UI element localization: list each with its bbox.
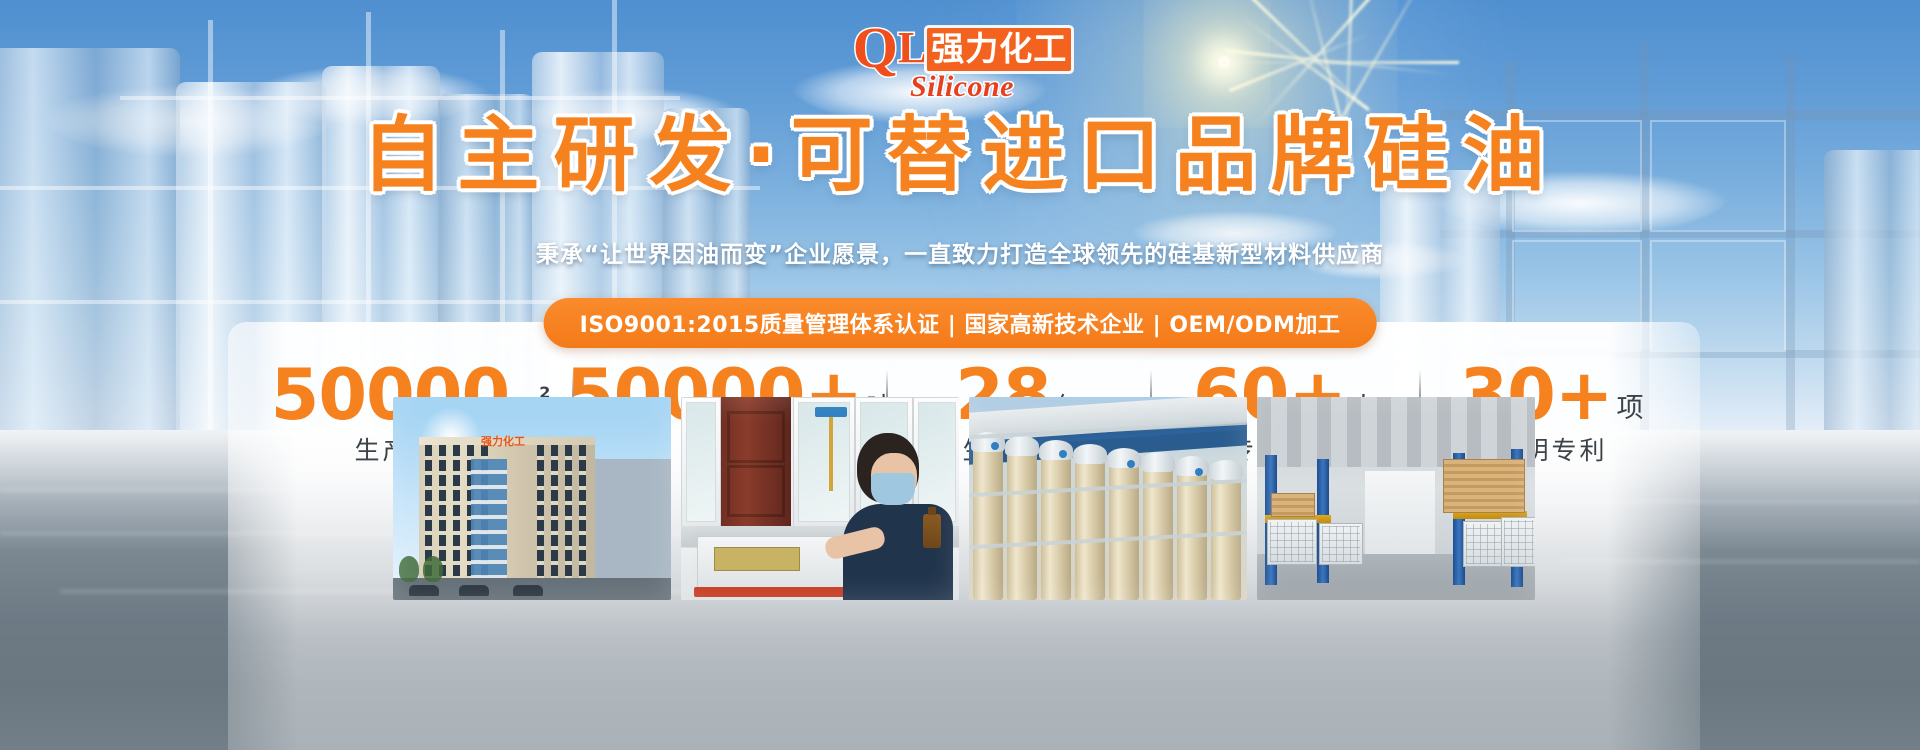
- lab-burette-stand: [829, 415, 833, 491]
- company-logo[interactable]: Q L 强力化工 Silicone: [862, 22, 1062, 100]
- parked-car: [513, 585, 543, 596]
- face-mask: [871, 473, 915, 505]
- ibc-tote: [1501, 517, 1535, 567]
- storage-tank-farm-photo[interactable]: [969, 397, 1247, 600]
- warehouse-storage-photo[interactable]: [1257, 397, 1535, 600]
- logo-company-name-cn: 强力化工: [927, 28, 1071, 71]
- certification-badge: ISO9001:2015质量管理体系认证 | 国家高新技术企业 | OEM/OD…: [544, 298, 1377, 348]
- laboratory-testing-photo[interactable]: [681, 397, 959, 600]
- lab-cabinet: [681, 397, 721, 527]
- parked-car: [459, 585, 489, 596]
- wood-pallet-stack: [1271, 493, 1315, 517]
- tree: [423, 556, 443, 582]
- building-facade: [419, 445, 595, 600]
- warehouse-aisle: [1365, 471, 1435, 567]
- sun-rays: [1224, 62, 1226, 64]
- hero-banner: Q L 强力化工 Silicone 自主研发·可替进口品牌硅油 秉承“让世界因油…: [0, 0, 1920, 750]
- warehouse-ceiling: [1257, 397, 1535, 467]
- parked-car: [409, 585, 439, 596]
- lab-door: [717, 397, 791, 527]
- reagent-bottle: [923, 514, 941, 548]
- ibc-tote: [1319, 523, 1363, 565]
- ibc-tote: [1267, 519, 1317, 565]
- logo-primary-row: Q L 强力化工: [862, 22, 1062, 74]
- tree: [399, 556, 419, 582]
- logo-l-mark: L: [898, 22, 925, 74]
- pipe: [120, 96, 680, 100]
- hero-headline: 自主研发·可替进口品牌硅油: [0, 108, 1920, 204]
- building-logo-sign: 强力化工: [481, 433, 525, 449]
- logo-q-mark: Q: [853, 22, 896, 74]
- photo-strip: 强力化工: [228, 397, 1700, 750]
- hero-subtitle: 秉承“让世界因油而变”企业愿景，一直致力打造全球领先的硅基新型材料供应商: [0, 238, 1920, 272]
- office-building-photo[interactable]: 强力化工: [393, 397, 671, 600]
- wood-pallet-stack: [1443, 459, 1525, 513]
- certification-badge-label: ISO9001:2015质量管理体系认证 | 国家高新技术企业 | OEM/OD…: [580, 307, 1341, 339]
